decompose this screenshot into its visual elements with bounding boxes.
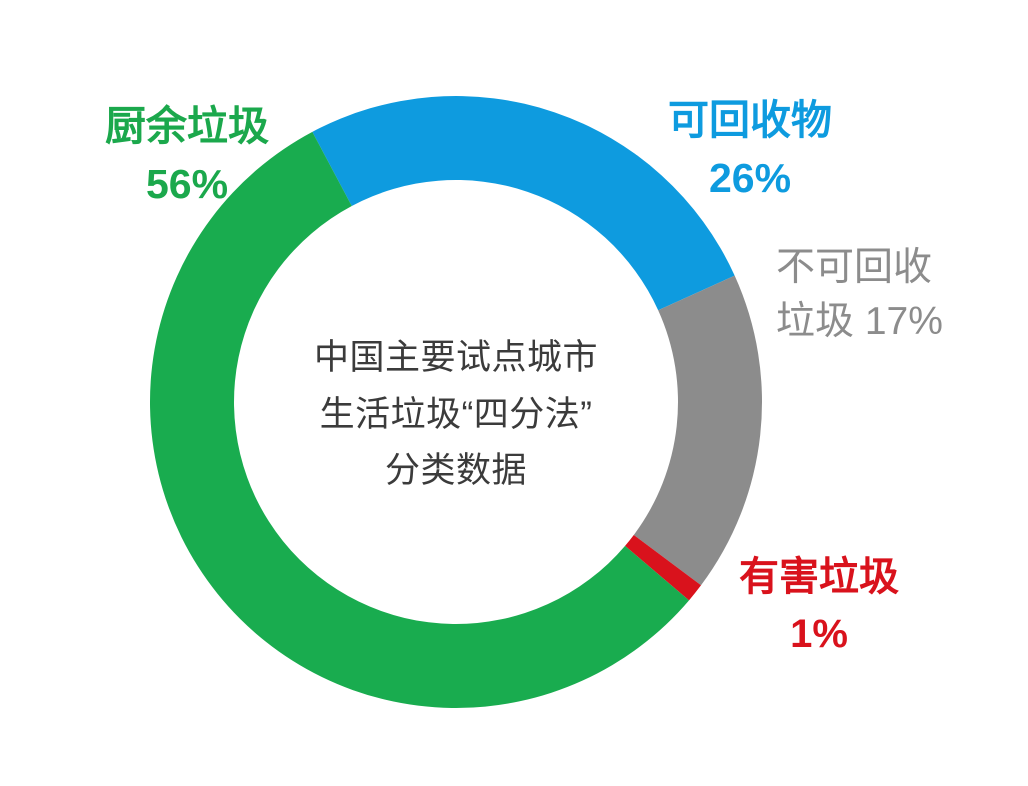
slice-label-hazardous-waste: 有害垃圾 1% <box>726 552 912 660</box>
slice-label-kitchen-waste: 厨余垃圾 56% <box>82 100 292 211</box>
donut-chart-figure: 中国主要试点城市 生活垃圾“四分法” 分类数据 厨余垃圾 56% 可回收物 26… <box>0 0 1028 786</box>
slice-label-kitchen-waste-percent: 56% <box>82 158 292 210</box>
slice-label-recyclable: 可回收物 26% <box>650 94 850 205</box>
center-text-line-1: 中国主要试点城市 <box>256 330 656 387</box>
slice-label-recyclable-percent: 26% <box>650 152 850 204</box>
slice-label-hazardous-waste-name: 有害垃圾 <box>726 552 912 603</box>
center-text-line-3: 分类数据 <box>256 443 656 500</box>
slice-label-non-recyclable-line-1: 不可回收 <box>776 246 932 289</box>
slice-label-non-recyclable-line-2: 垃圾 17% <box>776 297 986 347</box>
slice-label-recyclable-name: 可回收物 <box>650 94 850 146</box>
slice-label-hazardous-waste-percent: 1% <box>726 609 912 660</box>
slice-label-kitchen-waste-name: 厨余垃圾 <box>82 100 292 152</box>
slice-label-non-recyclable: 不可回收 垃圾 17% <box>776 243 986 347</box>
center-text-line-2: 生活垃圾“四分法” <box>256 387 656 444</box>
donut-center-text: 中国主要试点城市 生活垃圾“四分法” 分类数据 <box>256 330 656 500</box>
